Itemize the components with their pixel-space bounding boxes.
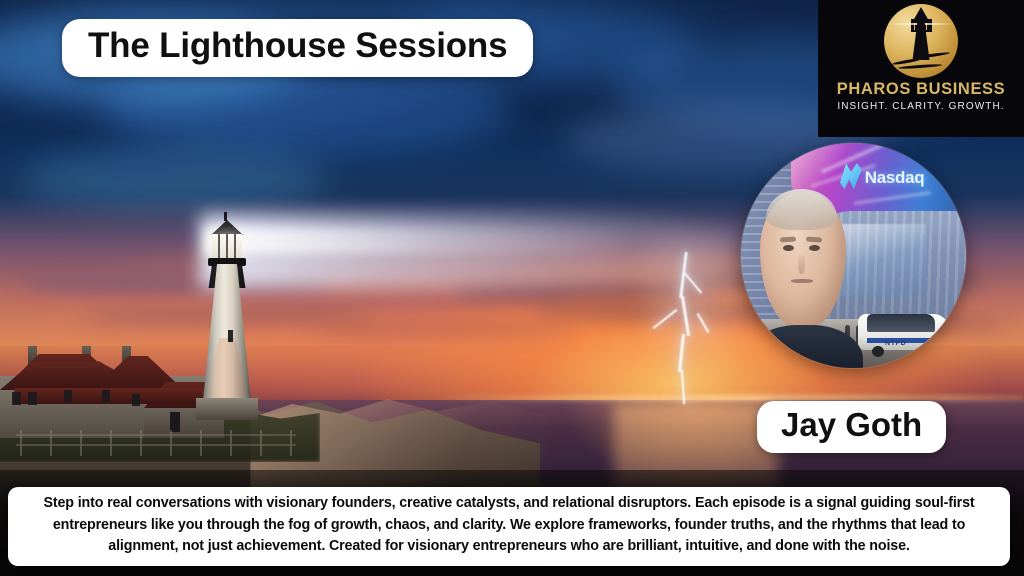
brand-tagline: INSIGHT. CLARITY. GROWTH. bbox=[837, 101, 1004, 112]
host-eyebrow bbox=[806, 236, 823, 242]
lighthouse-icon bbox=[884, 4, 958, 78]
host-nose bbox=[798, 252, 806, 274]
house-window bbox=[64, 390, 72, 402]
host-name-badge: Jay Goth bbox=[757, 401, 946, 453]
nasdaq-sign-text: Nasdaq bbox=[865, 168, 925, 188]
house-door bbox=[170, 412, 180, 432]
lighthouse-light-beam-core bbox=[205, 228, 635, 254]
show-description-text: Step into real conversations with vision… bbox=[18, 493, 1000, 558]
sunset-cloud bbox=[307, 323, 573, 334]
host-portrait bbox=[746, 188, 863, 368]
host-shirt bbox=[746, 325, 863, 368]
lighthouse-finial bbox=[224, 212, 227, 221]
host-hair bbox=[766, 189, 837, 230]
nypd-decal-text: NYPD bbox=[885, 340, 906, 347]
host-mouth bbox=[791, 279, 814, 283]
show-description-box: Step into real conversations with vision… bbox=[8, 487, 1010, 566]
brand-logo-panel: PHAROS BUSINESS INSIGHT. CLARITY. GROWTH… bbox=[818, 0, 1024, 137]
lighthouse-dome bbox=[211, 220, 243, 235]
lighthouse-base bbox=[196, 398, 258, 420]
storm-cloud bbox=[102, 69, 512, 152]
lantern-glazing-bars bbox=[212, 234, 242, 260]
host-eye bbox=[783, 245, 794, 251]
host-eyebrow bbox=[780, 236, 797, 242]
logo-waves bbox=[890, 52, 952, 68]
podcast-cover-canvas: The Lighthouse Sessions PHAROS BUSINESS … bbox=[0, 0, 1024, 576]
house-window bbox=[12, 392, 21, 405]
host-eye bbox=[809, 245, 820, 251]
police-vehicle-window bbox=[867, 314, 935, 332]
brand-name: PHAROS BUSINESS bbox=[837, 80, 1006, 98]
cliff-fence bbox=[16, 430, 296, 464]
house-window bbox=[28, 392, 37, 405]
house-window bbox=[102, 390, 110, 402]
host-face bbox=[760, 192, 847, 329]
lighthouse bbox=[192, 218, 262, 408]
house-window bbox=[132, 394, 140, 406]
avatar: Nasdaq NYPD bbox=[741, 143, 966, 368]
lighthouse-window bbox=[228, 330, 233, 342]
page-title: The Lighthouse Sessions bbox=[62, 19, 533, 77]
